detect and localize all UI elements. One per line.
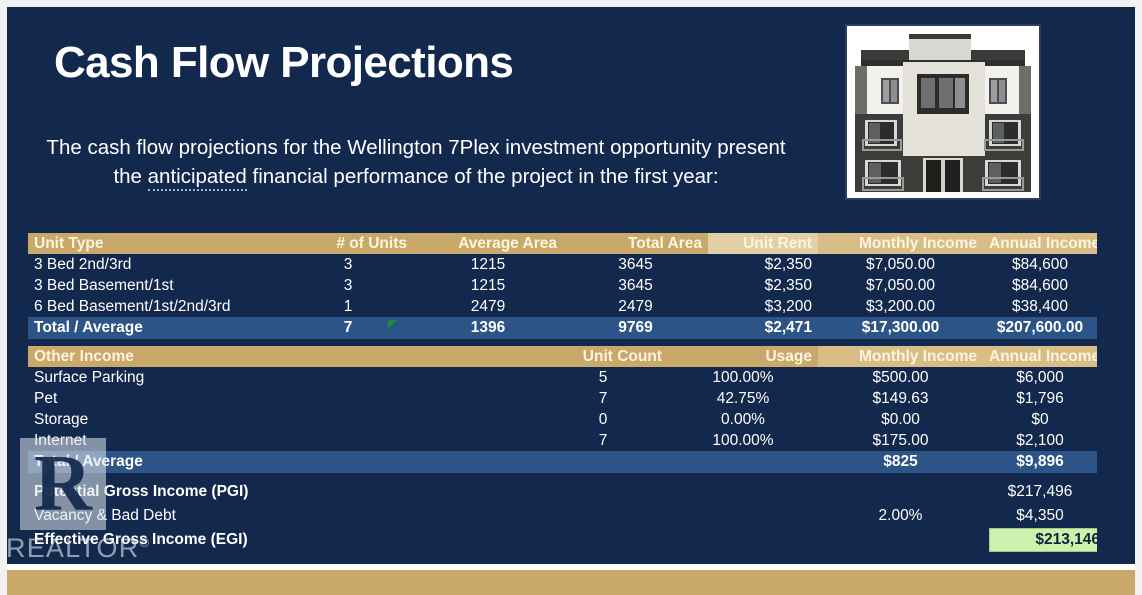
cell-oi-annual-income: $0 (983, 409, 1097, 430)
cell-oi-name: Storage (28, 409, 538, 430)
building-illustration-svg (847, 26, 1039, 198)
cell-total-area: 3645 (563, 275, 708, 296)
col-header-num-units: # of Units (283, 233, 413, 254)
cell-average-area: 1215 (413, 275, 563, 296)
cell-average-area: 2479 (413, 296, 563, 317)
cell-oi-usage: 100.00% (668, 430, 818, 451)
cell-total-monthly-income: $17,300.00 (818, 317, 983, 339)
cell-total-total-area: 9769 (563, 317, 708, 339)
table-row: Internet 7 100.00% $175.00 $2,100 (28, 430, 1097, 451)
summary-label-pgi: Potential Gross Income (PGI) (28, 480, 538, 504)
cell-oi-unit-count: 7 (538, 388, 668, 409)
financial-tables: Unit Type # of Units Average Area Total … (28, 233, 1097, 552)
summary-spacer-a (538, 480, 668, 504)
cell-monthly-income: $7,050.00 (818, 254, 983, 275)
cell-unit-rent: $3,200 (708, 296, 818, 317)
intro-emphasis-anticipated: anticipated (148, 165, 247, 191)
summary-row-egi: Effective Gross Income (EGI) $213,146 (28, 528, 1097, 552)
table-row: 6 Bed Basement/1st/2nd/3rd 1 2479 2479 $… (28, 296, 1097, 317)
cell-oi-unit-count: 7 (538, 430, 668, 451)
unit-mix-table: Unit Type # of Units Average Area Total … (28, 233, 1097, 346)
building-elevation-image (845, 24, 1041, 200)
intro-paragraph: The cash flow projections for the Wellin… (46, 133, 786, 191)
cell-units: 1 (283, 296, 413, 317)
cell-oi-monthly-income: $149.63 (818, 388, 983, 409)
table-spacer-row (28, 473, 1097, 480)
col-header-monthly-income: Monthly Income (818, 233, 983, 254)
summary-spacer-b (668, 504, 818, 528)
cell-oi-name: Pet (28, 388, 538, 409)
table-row: Surface Parking 5 100.00% $500.00 $6,000 (28, 367, 1097, 388)
cell-unit-type: 3 Bed 2nd/3rd (28, 254, 283, 275)
cell-monthly-income: $3,200.00 (818, 296, 983, 317)
col-header-annual-income: Annual Income (983, 233, 1097, 254)
summary-spacer-a (538, 504, 668, 528)
summary-vacancy-rate: 2.00% (818, 504, 983, 528)
intro-text-part2: financial performance of the project in … (247, 165, 719, 188)
cell-unit-type: 6 Bed Basement/1st/2nd/3rd (28, 296, 283, 317)
col-header-unit-type: Unit Type (28, 233, 283, 254)
summary-middle-egi (818, 528, 983, 552)
cell-oi-total-annual-income: $9,896 (983, 451, 1097, 473)
col-header-oi-monthly-income: Monthly Income (818, 346, 983, 367)
slide-canvas: Cash Flow Projections The cash flow proj… (0, 0, 1142, 595)
spacer-cell (28, 473, 1097, 480)
col-header-usage: Usage (668, 346, 818, 367)
cell-oi-monthly-income: $175.00 (818, 430, 983, 451)
summary-amount-egi-cell: $213,146 (983, 528, 1097, 552)
spacer-cell (28, 339, 1097, 346)
summary-amount-vacancy: $4,350 (983, 504, 1097, 528)
cell-total-area: 2479 (563, 296, 708, 317)
cell-unit-rent: $2,350 (708, 254, 818, 275)
cell-total-area: 3645 (563, 254, 708, 275)
cell-total-average-area: 1396 (413, 317, 563, 339)
page-title: Cash Flow Projections (54, 38, 513, 88)
table-row: Storage 0 0.00% $0.00 $0 (28, 409, 1097, 430)
col-header-unit-count: Unit Count (538, 346, 668, 367)
cell-average-area: 1215 (413, 254, 563, 275)
cell-monthly-income: $7,050.00 (818, 275, 983, 296)
cell-oi-total-monthly-income: $825 (818, 451, 983, 473)
cell-oi-name: Surface Parking (28, 367, 538, 388)
col-header-oi-annual-income: Annual Income (983, 346, 1097, 367)
cell-annual-income: $38,400 (983, 296, 1097, 317)
cell-oi-monthly-income: $0.00 (818, 409, 983, 430)
col-header-unit-rent: Unit Rent (708, 233, 818, 254)
cell-oi-monthly-income: $500.00 (818, 367, 983, 388)
cell-annual-income: $84,600 (983, 275, 1097, 296)
footer-accent-bar (0, 570, 1142, 595)
summary-label-egi: Effective Gross Income (EGI) (28, 528, 538, 552)
cell-oi-unit-count: 0 (538, 409, 668, 430)
table-row: 3 Bed 2nd/3rd 3 1215 3645 $2,350 $7,050.… (28, 254, 1097, 275)
cell-unit-rent: $2,350 (708, 275, 818, 296)
table-row: 3 Bed Basement/1st 3 1215 3645 $2,350 $7… (28, 275, 1097, 296)
summary-row-vacancy: Vacancy & Bad Debt 2.00% $4,350 (28, 504, 1097, 528)
unit-mix-total-row: Total / Average 7 1396 9769 $2,471 $17,3… (28, 317, 1097, 339)
cell-total-unit-rent: $2,471 (708, 317, 818, 339)
summary-amount-pgi: $217,496 (983, 480, 1097, 504)
unit-mix-header-row: Unit Type # of Units Average Area Total … (28, 233, 1097, 254)
summary-middle-pgi (818, 480, 983, 504)
cell-total-annual-income: $207,600.00 (983, 317, 1097, 339)
table-row: Pet 7 42.75% $149.63 $1,796 (28, 388, 1097, 409)
cell-oi-usage: 42.75% (668, 388, 818, 409)
cell-annual-income: $84,600 (983, 254, 1097, 275)
summary-spacer-a (538, 528, 668, 552)
cell-oi-usage: 0.00% (668, 409, 818, 430)
col-header-total-area: Total Area (563, 233, 708, 254)
cell-oi-total-usage (668, 451, 818, 473)
cell-oi-total-label: Total / Average (28, 451, 538, 473)
cell-units: 3 (283, 275, 413, 296)
col-header-average-area: Average Area (413, 233, 563, 254)
cell-oi-annual-income: $1,796 (983, 388, 1097, 409)
cell-oi-name: Internet (28, 430, 538, 451)
cell-oi-usage: 100.00% (668, 367, 818, 388)
summary-spacer-b (668, 528, 818, 552)
summary-label-vacancy: Vacancy & Bad Debt (28, 504, 538, 528)
cell-oi-annual-income: $2,100 (983, 430, 1097, 451)
egi-highlight-value: $213,146 (989, 528, 1097, 552)
summary-row-pgi: Potential Gross Income (PGI) $217,496 (28, 480, 1097, 504)
cell-oi-annual-income: $6,000 (983, 367, 1097, 388)
cell-total-label: Total / Average (28, 317, 283, 339)
summary-spacer-b (668, 480, 818, 504)
cell-oi-unit-count: 5 (538, 367, 668, 388)
cell-unit-type: 3 Bed Basement/1st (28, 275, 283, 296)
cell-units: 3 (283, 254, 413, 275)
cell-oi-total-unit-count (538, 451, 668, 473)
col-header-other-income: Other Income (28, 346, 538, 367)
table-spacer-row (28, 339, 1097, 346)
other-income-header-row: Other Income Unit Count Usage Monthly In… (28, 346, 1097, 367)
other-income-total-row: Total / Average $825 $9,896 (28, 451, 1097, 473)
other-income-table: Other Income Unit Count Usage Monthly In… (28, 346, 1097, 552)
cell-comment-marker-icon (388, 320, 397, 329)
